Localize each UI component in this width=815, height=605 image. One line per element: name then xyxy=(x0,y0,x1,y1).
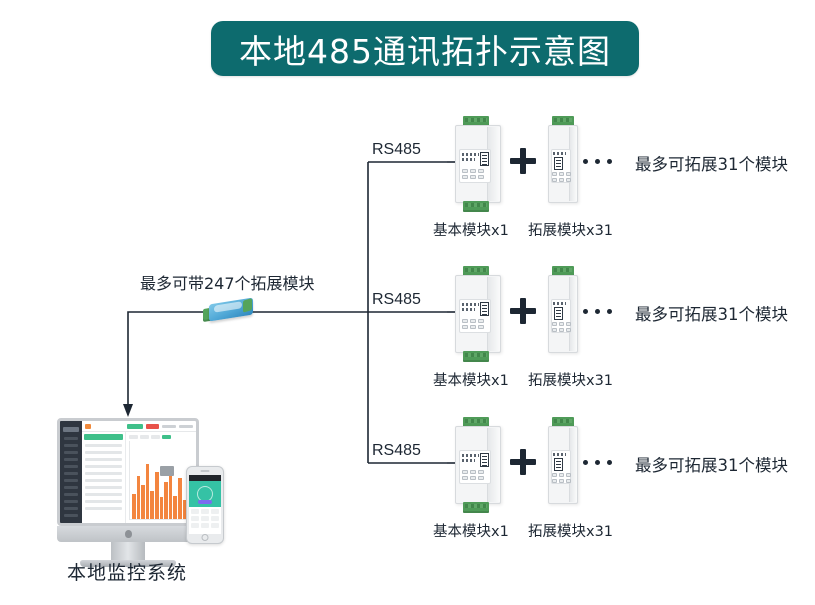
phone-tile xyxy=(191,509,199,514)
base-module-3 xyxy=(449,417,507,513)
chart-tooltip xyxy=(160,466,174,476)
module-model-text xyxy=(462,158,475,161)
phone-tile xyxy=(201,516,209,521)
ellipsis-dots-3 xyxy=(583,460,612,465)
list-item xyxy=(85,472,122,475)
expansion-module-label-3: 拓展模块x31 xyxy=(528,520,613,541)
chart-control xyxy=(140,435,149,439)
base-module-1 xyxy=(449,116,507,212)
led-indicators xyxy=(552,172,571,182)
module-brand-text xyxy=(553,152,566,155)
module-model-text xyxy=(462,308,475,311)
expansion-module-label-1: 拓展模块x31 xyxy=(528,219,613,240)
plus-sign-3 xyxy=(510,449,536,475)
imac-screen xyxy=(57,418,199,526)
dip-switch xyxy=(480,302,489,316)
module-brand-text xyxy=(553,302,566,305)
phone-tile xyxy=(191,516,199,521)
bar xyxy=(178,478,182,519)
sidebar-item xyxy=(64,451,78,454)
local-monitoring-phone xyxy=(186,466,224,544)
dip-switch xyxy=(554,307,563,320)
dashboard-topbar xyxy=(82,421,196,432)
phone-primary-button xyxy=(198,500,212,504)
phone-tile xyxy=(201,509,209,514)
local-monitoring-pc xyxy=(57,418,199,568)
topbar-brand-mark xyxy=(85,424,91,429)
terminal-block-bottom xyxy=(463,502,489,513)
topbar-primary-button xyxy=(127,424,143,429)
list-item xyxy=(85,500,122,503)
chart-control xyxy=(151,435,160,439)
bar xyxy=(150,491,154,519)
list-item xyxy=(85,493,122,496)
sidebar-item xyxy=(64,479,78,482)
expansion-module-label-2: 拓展模块x31 xyxy=(528,369,613,390)
dashboard-ui xyxy=(60,421,196,523)
phone-tile xyxy=(211,509,219,514)
sidebar-item xyxy=(64,493,78,496)
sidebar-item xyxy=(64,444,78,447)
apple-logo-icon xyxy=(125,530,132,538)
expansion-module-2 xyxy=(543,266,583,362)
bar xyxy=(141,485,145,519)
sidebar-item xyxy=(64,486,78,489)
base-module-label-2: 基本模块x1 xyxy=(433,369,509,390)
converter-terminal-right xyxy=(243,298,252,313)
base-module-label-3: 基本模块x1 xyxy=(433,520,509,541)
bar xyxy=(132,494,136,519)
converter-body xyxy=(209,298,253,322)
sidebar-item xyxy=(64,437,78,440)
topology-diagram-canvas: 本地485通讯拓扑示意图 最多可带247个拓展模块 xyxy=(0,0,815,605)
bar-chart-bars xyxy=(132,441,191,519)
chart-control-active xyxy=(162,435,171,439)
led-indicators xyxy=(552,322,571,332)
ellipsis-dots-2 xyxy=(583,309,612,314)
led-indicators xyxy=(462,470,484,480)
module-brand-text xyxy=(462,303,479,306)
dip-switch xyxy=(480,152,489,166)
sidebar-item xyxy=(64,514,78,517)
module-brand-text xyxy=(553,453,566,456)
list-header xyxy=(84,434,123,440)
phone-hero-panel xyxy=(189,481,221,507)
chart-controls xyxy=(129,435,193,439)
list-item xyxy=(85,486,122,489)
phone-tile xyxy=(191,523,199,528)
base-module-label-1: 基本模块x1 xyxy=(433,219,509,240)
dip-switch xyxy=(480,453,489,467)
plus-sign-1 xyxy=(510,148,536,174)
led-indicators xyxy=(552,473,571,483)
capacity-note-247: 最多可带247个拓展模块 xyxy=(140,270,315,294)
module-model-text xyxy=(462,459,475,462)
bus-label-rs485-2: RS485 xyxy=(372,291,421,309)
bar xyxy=(173,496,177,519)
imac-chin xyxy=(57,526,199,542)
bus-label-rs485-1: RS485 xyxy=(372,141,421,159)
topbar-text xyxy=(162,425,176,428)
local-monitoring-system-label: 本地监控系统 xyxy=(67,558,187,585)
module-brand-text xyxy=(462,454,479,457)
dashboard-device-list xyxy=(82,432,126,523)
plus-sign-2 xyxy=(510,298,536,324)
sidebar-item xyxy=(64,472,78,475)
converter-label-strip xyxy=(214,301,242,312)
expandable-note-2: 最多可拓展31个模块 xyxy=(635,301,788,325)
ellipsis-dots-1 xyxy=(583,159,612,164)
dashboard-sidebar xyxy=(60,421,82,523)
list-item xyxy=(85,444,122,447)
bar-chart xyxy=(129,441,193,520)
terminal-block-bottom xyxy=(463,201,489,212)
list-item xyxy=(85,507,122,510)
list-item xyxy=(85,458,122,461)
topbar-text xyxy=(179,425,193,428)
sidebar-item xyxy=(64,465,78,468)
bus-label-rs485-3: RS485 xyxy=(372,442,421,460)
dashboard-main xyxy=(82,421,196,523)
bar xyxy=(164,482,168,519)
list-item xyxy=(85,465,122,468)
expandable-note-3: 最多可拓展31个模块 xyxy=(635,452,788,476)
module-brand-text xyxy=(462,153,479,156)
chart-control xyxy=(129,435,138,439)
phone-home-button xyxy=(202,534,209,541)
phone-speaker xyxy=(201,470,210,472)
terminal-block-bottom xyxy=(463,351,489,362)
bar xyxy=(146,464,150,519)
expansion-module-3 xyxy=(543,417,583,513)
dip-switch xyxy=(554,458,563,471)
phone-tile xyxy=(211,516,219,521)
dashboard-body xyxy=(82,432,196,523)
led-indicators xyxy=(462,169,484,179)
phone-screen xyxy=(189,475,221,534)
phone-tile xyxy=(201,523,209,528)
topbar-alert-button xyxy=(146,424,159,429)
sidebar-item xyxy=(64,507,78,510)
sidebar-item xyxy=(64,500,78,503)
dashboard-logo xyxy=(63,427,79,432)
led-indicators xyxy=(462,319,484,329)
list-item xyxy=(85,451,122,454)
phone-tile-grid xyxy=(189,507,221,530)
bar xyxy=(155,472,159,519)
phone-tile xyxy=(211,523,219,528)
expandable-note-1: 最多可拓展31个模块 xyxy=(635,151,788,175)
expansion-module-1 xyxy=(543,116,583,212)
base-module-2 xyxy=(449,266,507,362)
list-item xyxy=(85,479,122,482)
dip-switch xyxy=(554,157,563,170)
bar xyxy=(137,476,141,519)
sidebar-item xyxy=(64,458,78,461)
rs485-converter-device xyxy=(203,299,257,325)
bar xyxy=(160,497,164,519)
